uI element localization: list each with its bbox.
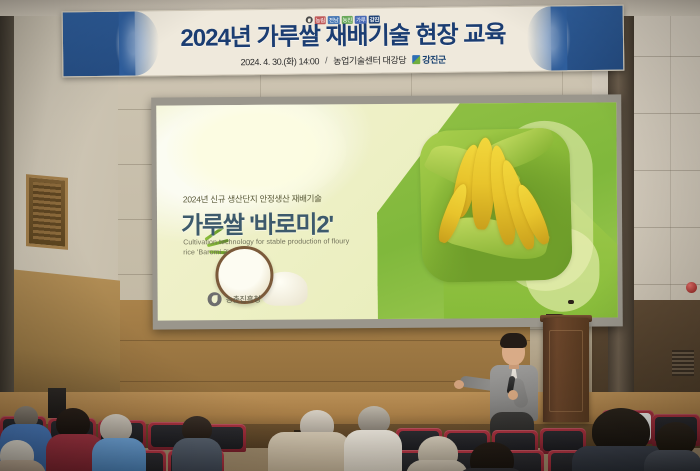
rice-photo-card: [419, 127, 573, 283]
gangjin-logo-icon: [412, 55, 420, 64]
auditorium-photo: 농림 전남 농진 가루 강진 2024년 가루쌀 재배기술 현장 교육 2024…: [0, 0, 700, 471]
banner-host-label: 강진군: [422, 52, 446, 65]
emergency-light-icon: [686, 282, 697, 293]
slide-title: 가루쌀 '바로미2': [181, 204, 333, 240]
projected-slide: 2024년 신규 생산단지 안정생산 재배기술 가루쌀 '바로미2' Culti…: [156, 102, 617, 320]
banner-title: 2024년 가루쌀 재배기술 현장 교육: [180, 23, 505, 51]
seated-audience: [0, 392, 700, 471]
presenter-hair: [500, 333, 527, 348]
wall-niche-left: [26, 174, 68, 250]
banner-host: 강진군: [412, 52, 446, 65]
banner-separator: /: [325, 55, 327, 65]
slide-logo: 농촌진흥청: [208, 292, 261, 306]
slide-logo-label: 농촌진흥청: [226, 293, 261, 304]
banner-subtitle-row: 2024. 4. 30.(화) 14:00 / 농업기술센터 대강당 강진군: [241, 52, 446, 68]
slide-english-subtitle: Cultivation technology for stable produc…: [183, 237, 353, 258]
slide-kicker: 2024년 신규 생산단지 안정생산 재배기술: [183, 192, 322, 205]
presenter-left-hand: [454, 380, 464, 389]
banner-content: 농림 전남 농진 가루 강진 2024년 가루쌀 재배기술 현장 교육 2024…: [143, 7, 544, 76]
banner-venue: 농업기술센터 대강당: [333, 53, 406, 67]
banner-date: 2024. 4. 30.(화) 14:00: [241, 54, 320, 68]
rda-seal-icon: [208, 292, 222, 306]
projection-screen-frame: 2024년 신규 생산단지 안정생산 재배기술 가루쌀 '바로미2' Culti…: [151, 94, 623, 329]
event-banner: 농림 전남 농진 가루 강진 2024년 가루쌀 재배기술 현장 교육 2024…: [62, 5, 625, 78]
gov-seal-icon: [305, 16, 312, 23]
wall-vent-icon: [672, 350, 694, 376]
left-edge-column: [0, 0, 14, 430]
